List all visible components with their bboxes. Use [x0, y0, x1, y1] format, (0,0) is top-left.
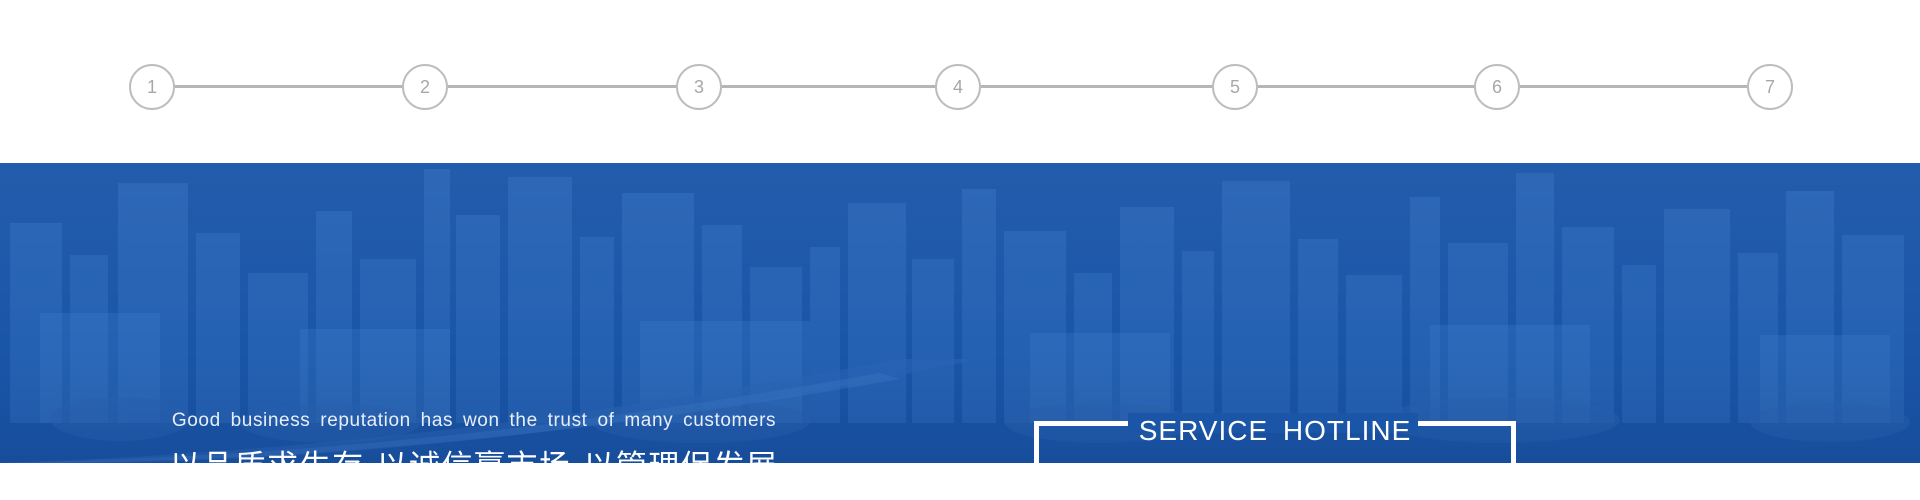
- step-item-3[interactable]: 3: [676, 64, 722, 110]
- hotline-numbers: 服务热线： 183-2660-0068 0551-63749777: [1034, 459, 1516, 463]
- hotline-title: SERVICE HOTLINE: [1034, 413, 1516, 449]
- step-label: 7: [1765, 78, 1775, 96]
- step-label: 2: [420, 78, 430, 96]
- step-label: 5: [1230, 78, 1240, 96]
- step-item-5[interactable]: 5: [1212, 64, 1258, 110]
- service-hotline-box: SERVICE HOTLINE 服务热线： 183-2660-0068 0551…: [1034, 413, 1516, 463]
- step-item-4[interactable]: 4: [935, 64, 981, 110]
- step-label: 1: [147, 78, 157, 96]
- slogan-block: Good business reputation has won the tru…: [0, 409, 948, 463]
- step-indicator: 1 2 3 4 5 6 7: [0, 0, 1920, 163]
- hotline-row-primary: 服务热线： 183-2660-0068: [1034, 459, 1516, 463]
- step-item-2[interactable]: 2: [402, 64, 448, 110]
- step-item-1[interactable]: 1: [129, 64, 175, 110]
- slogan-english: Good business reputation has won the tru…: [0, 409, 948, 434]
- page-root: 1 2 3 4 5 6 7: [0, 0, 1920, 500]
- step-item-6[interactable]: 6: [1474, 64, 1520, 110]
- promo-banner: Good business reputation has won the tru…: [0, 163, 1920, 463]
- hotline-label: 服务热线：: [1078, 459, 1208, 463]
- step-label: 3: [694, 78, 704, 96]
- slogan-chinese-main: 以品质求生存·以诚信赢市场·以管理促发展: [0, 448, 948, 463]
- step-label: 4: [953, 78, 963, 96]
- step-label: 6: [1492, 78, 1502, 96]
- step-item-7[interactable]: 7: [1747, 64, 1793, 110]
